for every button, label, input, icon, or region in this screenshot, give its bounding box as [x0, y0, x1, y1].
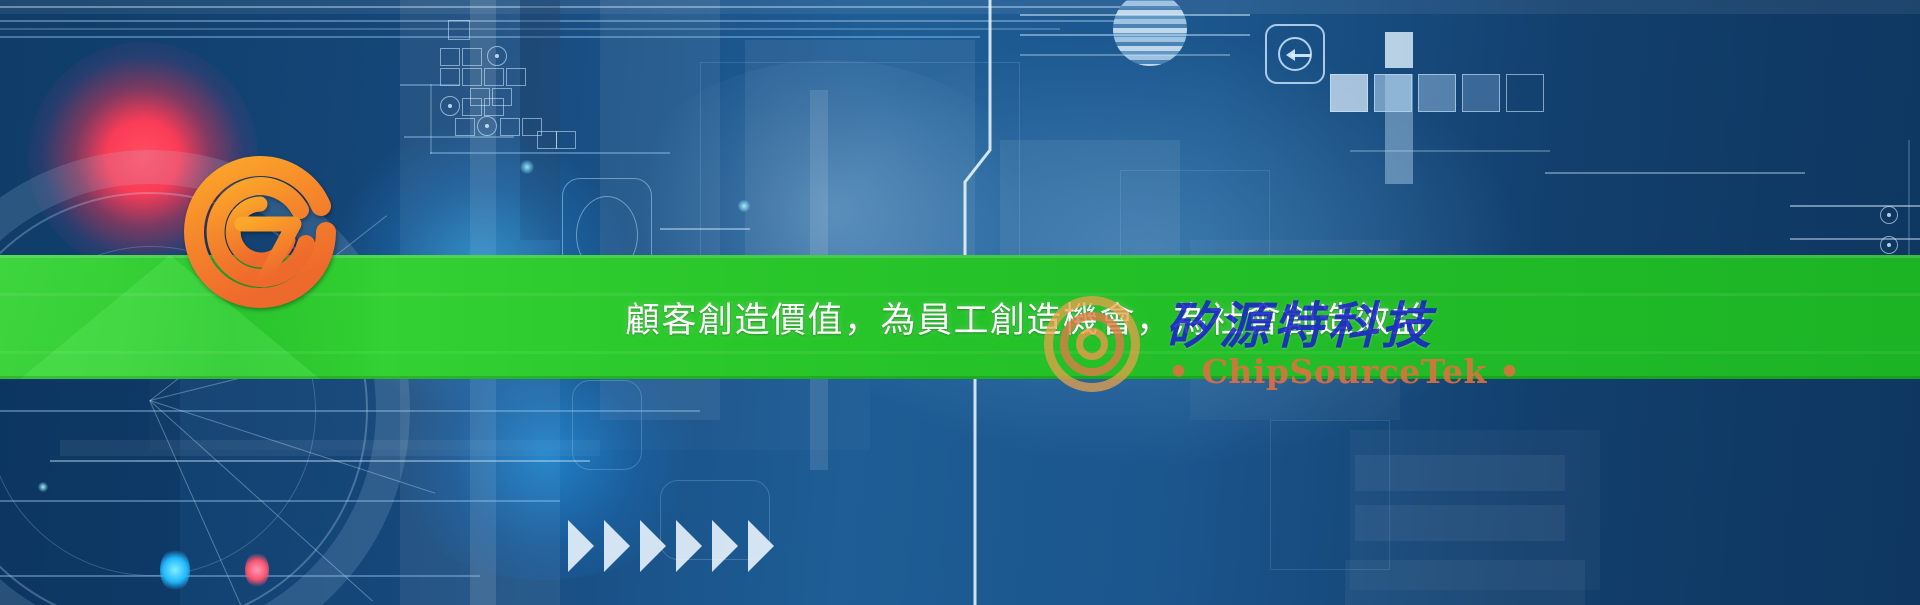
chipsourcetek-logo[interactable]	[176, 148, 344, 316]
square-tile	[1418, 74, 1456, 112]
arrow-left-in-circle-icon[interactable]	[1265, 24, 1325, 84]
watermark-company-cn: 矽源特科技	[1165, 286, 1435, 358]
cyan-glow-dot	[160, 548, 190, 592]
watermark-company-en: • ChipSourceTek •	[1168, 352, 1521, 391]
pink-glow-dot	[245, 552, 269, 588]
square-tile	[1330, 74, 1368, 112]
square-tile	[1462, 74, 1500, 112]
company-watermark: 矽源特科技 • ChipSourceTek •	[1040, 290, 1460, 400]
hero-banner: 顧客創造價值，為員工創造機會，為社會創造效益 矽源特科技 • ChipSourc…	[0, 0, 1920, 605]
square-tile	[1374, 74, 1412, 112]
striped-sphere-icon	[1113, 0, 1187, 66]
square-tile	[1506, 74, 1544, 112]
